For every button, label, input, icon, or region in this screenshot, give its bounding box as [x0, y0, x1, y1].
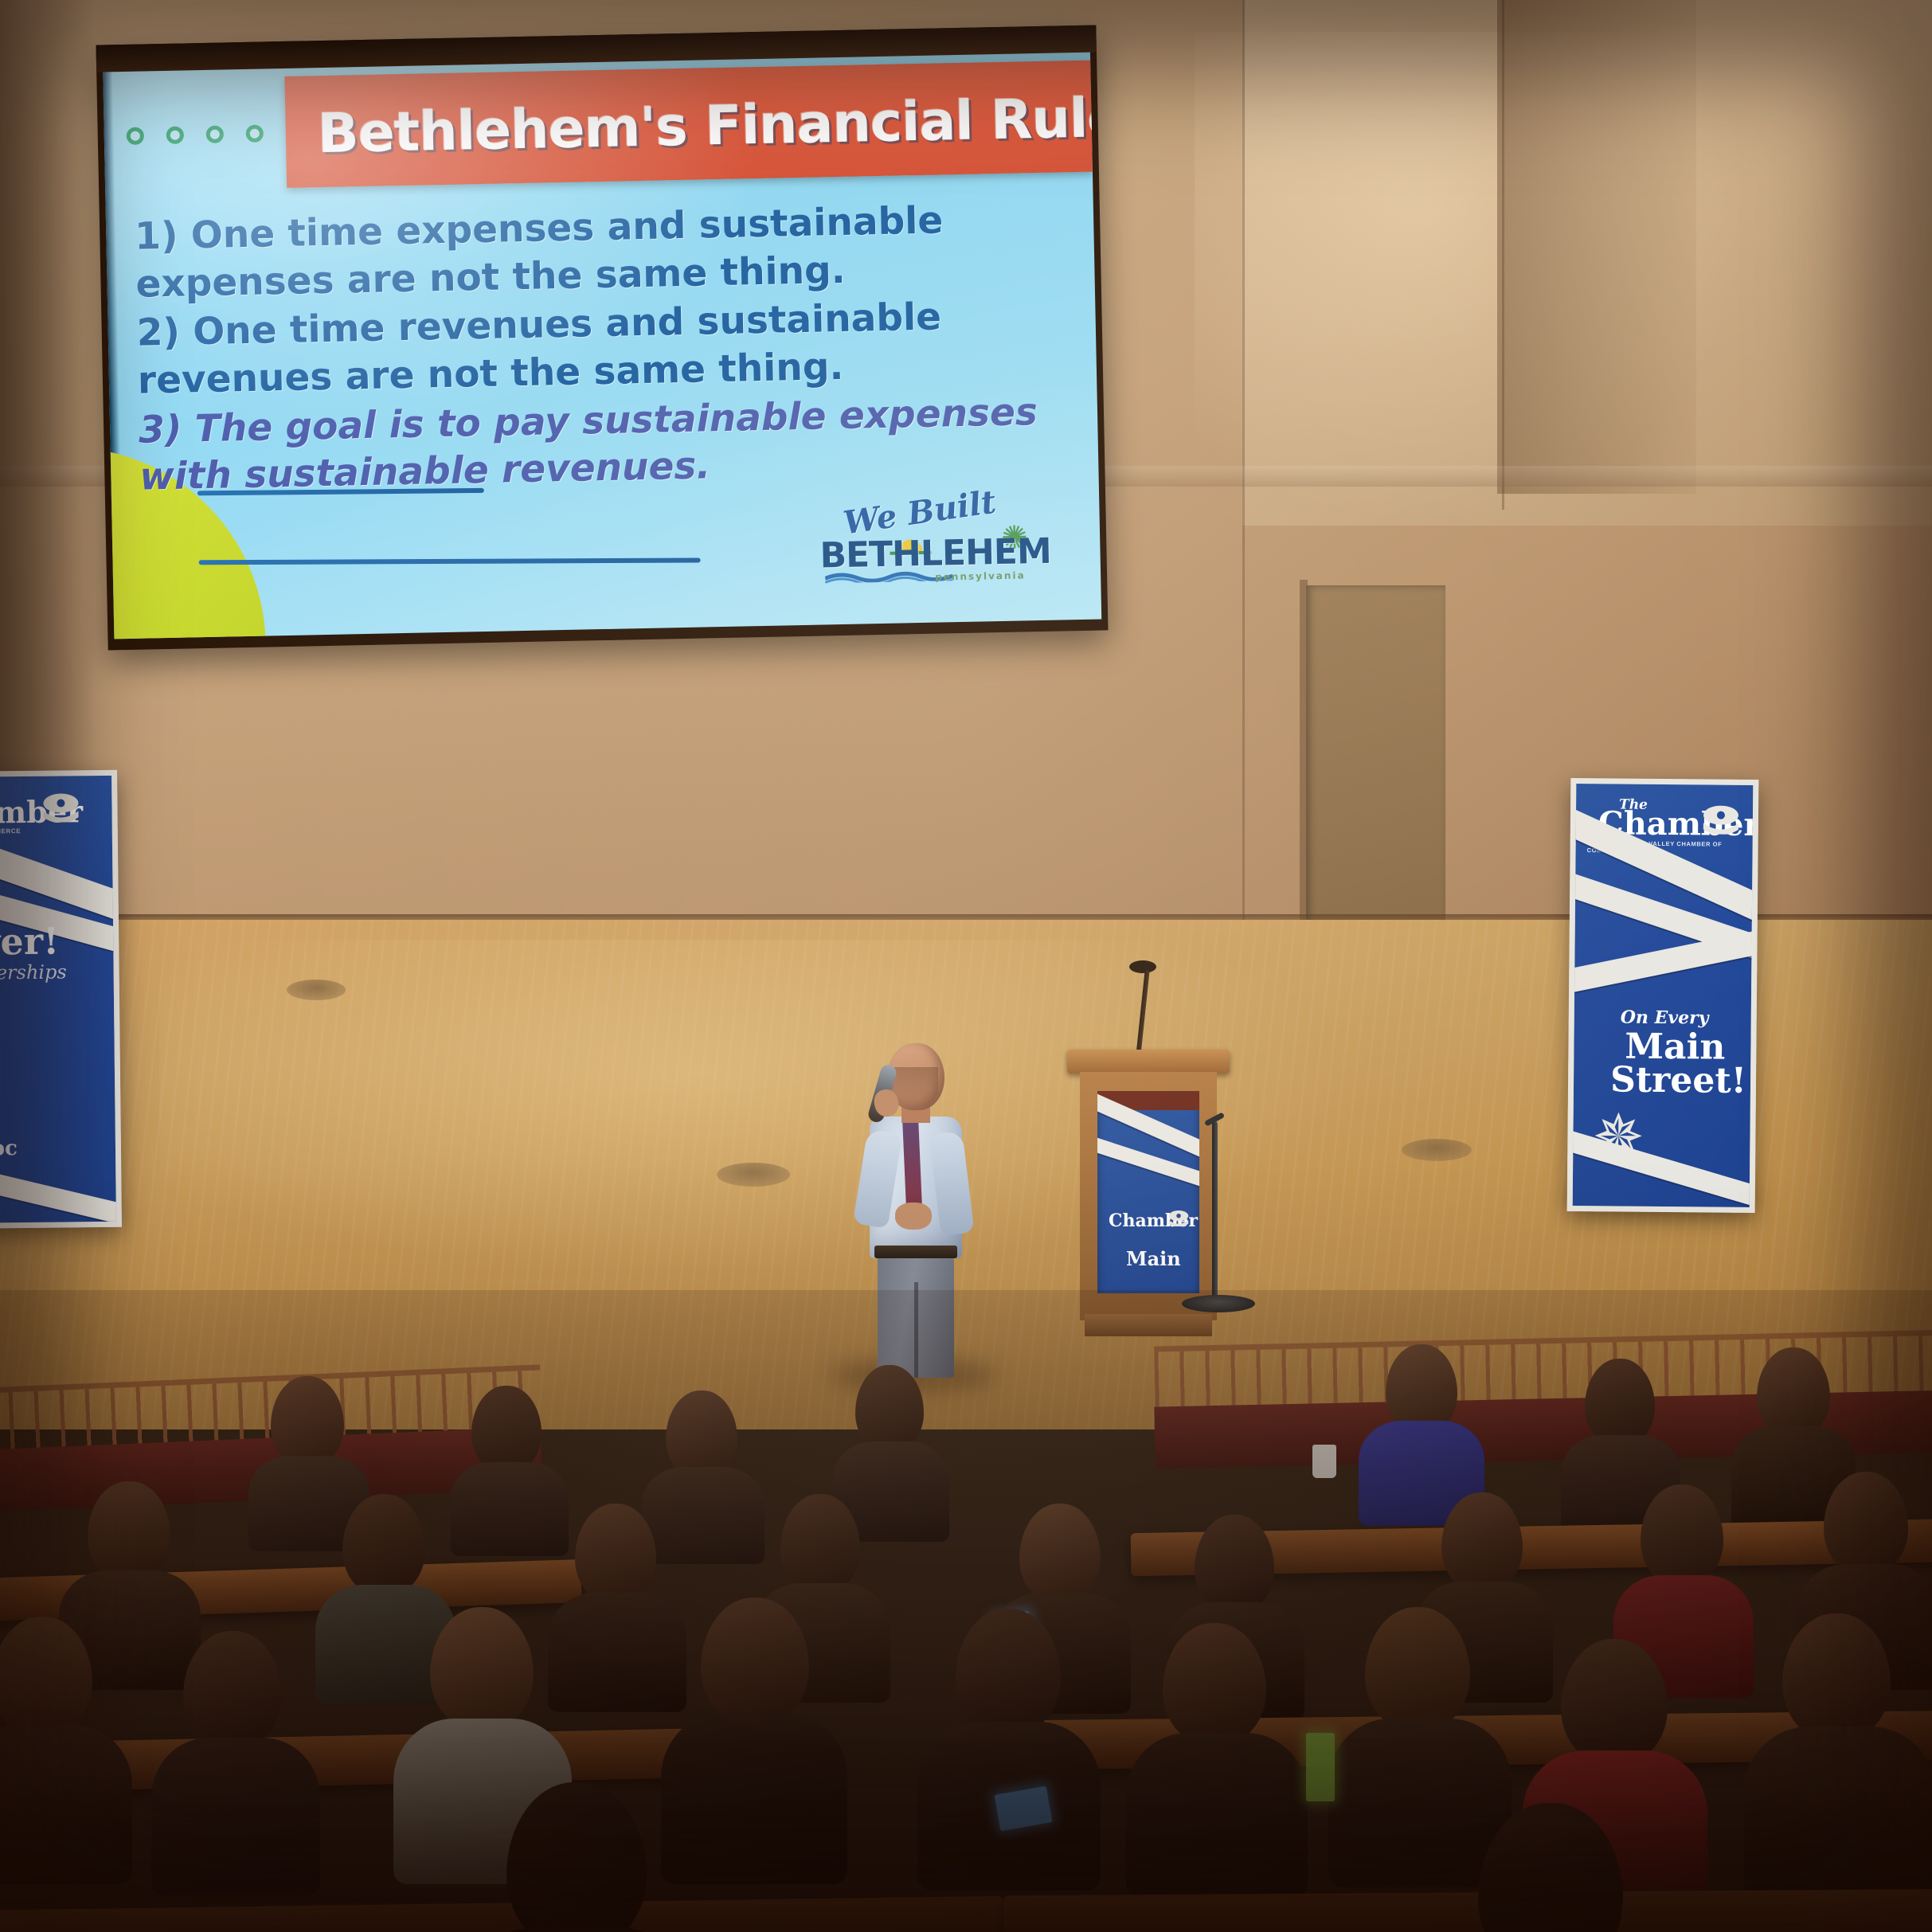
banner-sponsor: abc [0, 1136, 18, 1161]
mic-stand-pole [1212, 1121, 1218, 1304]
blank-fill-line [199, 558, 701, 565]
audience-head [1782, 1613, 1891, 1739]
presentation-slide: Bethlehem's Financial Rules 1) One time … [103, 53, 1101, 639]
podium-body: Chamber Main [1080, 1072, 1217, 1320]
wall-corner-shading [1497, 0, 1696, 494]
banner-stripe [0, 1144, 122, 1226]
banner-subline: partnerships [0, 960, 67, 984]
chamber-swoosh-icon [1702, 805, 1740, 834]
chamber-banner-left: Chamber CHAMBER OF COMMERCE ower! partne… [0, 770, 122, 1229]
projection-screen: Bethlehem's Financial Rules 1) One time … [96, 25, 1108, 650]
bethlehem-logo: ✺ We Built BETHLEHEM pennsylvania [812, 490, 1038, 598]
page-title: Bethlehem's Financial Rules [317, 86, 1101, 166]
audience-body [661, 1712, 847, 1884]
bench-row-front [1003, 1889, 1932, 1932]
audience-head [1441, 1492, 1523, 1591]
slide-rules-list: 1) One time expenses and sustainable exp… [135, 194, 1072, 503]
rule-item-3: 3) The goal is to pay sustainable expens… [139, 388, 1072, 502]
audience-head [430, 1607, 534, 1728]
audience-body [1126, 1733, 1308, 1897]
audience-body [151, 1738, 320, 1895]
audience-head [342, 1494, 425, 1594]
floor-inset-plate [1402, 1139, 1472, 1161]
audience-body [0, 1725, 132, 1884]
podium-top [1067, 1050, 1230, 1074]
audience-head [1195, 1515, 1274, 1612]
audience-head [271, 1376, 344, 1465]
audience-head [1561, 1639, 1668, 1763]
floor-inset-plate [717, 1163, 790, 1187]
banner-line-1: On Every [1621, 1007, 1709, 1029]
chamber-swoosh-icon [1167, 1210, 1190, 1226]
podium-banner: Chamber Main [1097, 1091, 1199, 1293]
dot-icon [166, 126, 184, 143]
rule-item-1: 1) One time expenses and sustainable exp… [135, 194, 1068, 308]
audience-body [1744, 1727, 1932, 1899]
wave-icon [825, 568, 952, 583]
logo-subtitle: pennsylvania [935, 569, 1026, 582]
banner-tagline: CHAMBER OF COMMERCE [0, 827, 21, 835]
audience-head [1365, 1607, 1470, 1730]
audience-head [471, 1386, 542, 1472]
audience-head [855, 1365, 924, 1451]
audience-head [1163, 1623, 1266, 1744]
audience-head [701, 1598, 809, 1723]
doorway [1306, 585, 1445, 928]
audience-head [575, 1504, 656, 1602]
dot-icon [246, 124, 264, 142]
slide-title-bar: Bethlehem's Financial Rules [284, 61, 1093, 188]
speaker-face-shading [892, 1067, 938, 1107]
coffee-cup [1312, 1445, 1336, 1478]
chamber-banner-right: The Chamber GREATER LEHIGH VALLEY CHAMBE… [1567, 778, 1759, 1213]
audience-head [1585, 1359, 1655, 1445]
audience-body [451, 1462, 569, 1556]
auditorium-photo: Bethlehem's Financial Rules 1) One time … [0, 0, 1932, 1932]
audience-head [956, 1609, 1061, 1733]
audience-head [780, 1494, 860, 1593]
audience-head [1641, 1484, 1723, 1585]
speaker-hand-lower [895, 1203, 932, 1230]
speaker-belt [874, 1246, 957, 1258]
audience-head [1386, 1344, 1457, 1432]
banner-line-3: Street! [1610, 1059, 1746, 1101]
audience-seating [0, 1290, 1932, 1932]
chamber-swoosh-icon [41, 793, 80, 823]
rule-item-2: 2) One time revenues and sustainable rev… [136, 291, 1070, 405]
audience-head [1824, 1472, 1908, 1574]
audience-head [1019, 1504, 1101, 1602]
banner-headline: ower! [0, 920, 60, 964]
wall-seam-corner [1502, 0, 1504, 510]
device-glow [1306, 1733, 1335, 1801]
audience-head [666, 1390, 737, 1478]
dot-icon [127, 127, 144, 144]
audience-head [1757, 1347, 1830, 1437]
audience-body [642, 1467, 765, 1564]
audience-head [88, 1481, 170, 1580]
floor-inset-plate [287, 980, 346, 1000]
audience-head [183, 1631, 282, 1747]
audience-body [548, 1593, 686, 1712]
bench-row-front [0, 1896, 1003, 1932]
podium-banner-line: Main [1126, 1247, 1181, 1270]
microphone-icon [1129, 960, 1156, 973]
slide-bullet-dots [127, 124, 264, 144]
dot-icon [206, 125, 224, 143]
